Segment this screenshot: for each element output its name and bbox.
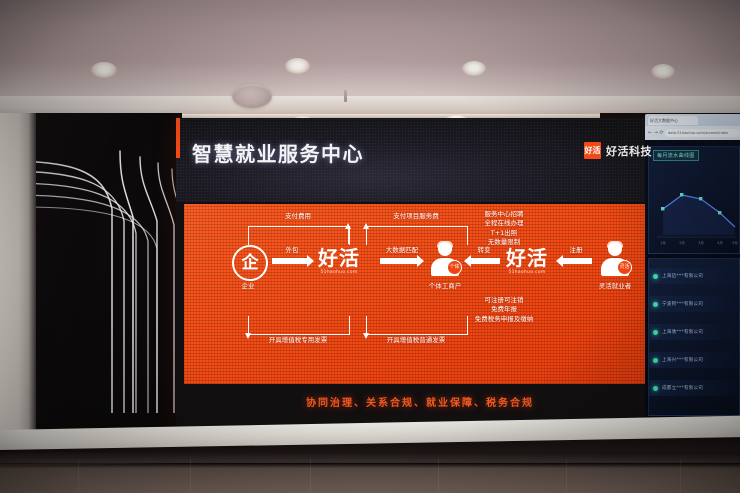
browser-nav-icons[interactable]: ←→⟳: [648, 130, 665, 136]
address-bar[interactable]: data.51haohuo.com/screen/index: [665, 129, 740, 137]
label-special-invoice: 开具增值税专用发票: [269, 336, 328, 345]
chart-card: 每月流水曲线图 1月 2月 3月 4月 5月: [648, 146, 740, 254]
badge-individual: 个体: [447, 260, 462, 275]
list-item[interactable]: 上海兴***有限公司: [648, 352, 740, 368]
node-individual-business-icon: 个体: [430, 242, 460, 276]
label-enterprise: 企业: [242, 282, 255, 291]
label-flexible-worker: 灵活就业者: [599, 282, 632, 291]
status-dot-icon: [653, 386, 658, 391]
note-right-top: 服务中心招聘 全程在线办理 T+1出照 无数量限制: [485, 210, 524, 248]
node-haohuo-left: 好活 51haohuo.com: [318, 248, 360, 275]
label-individual-business: 个体工商户: [429, 282, 462, 291]
arrow-register: [562, 258, 592, 264]
led-video-wall: 智慧就业服务中心 好活 好活科技 支付费用 支付项目服务费 企 企业: [176, 118, 664, 430]
bracket-arrow: [366, 228, 367, 244]
list-item[interactable]: 上海驰***有限公司: [648, 324, 740, 340]
label-pay-project-service-fee: 支付项目服务费: [393, 212, 439, 221]
brand-name: 好活科技: [606, 143, 652, 159]
address-bar-url: data.51haohuo.com/screen/index: [668, 131, 728, 135]
svg-text:1月: 1月: [660, 241, 666, 245]
label-general-invoice: 开具增值税普通发票: [387, 336, 446, 345]
node-flexible-worker-icon: 灵活: [600, 242, 630, 276]
list-item[interactable]: 宁波阿***有限公司: [648, 296, 740, 312]
label-bigdata-match: 大数据匹配: [386, 246, 419, 255]
browser-window[interactable]: 好活大数据中心 ←→⟳ data.51haohuo.com/screen/ind…: [645, 114, 740, 140]
downlight-icon: [285, 58, 310, 74]
person-head: [608, 242, 622, 256]
accent-bar: [176, 118, 180, 158]
bracket-arrow: [348, 228, 349, 244]
haohuo-logo-text: 好活: [318, 248, 360, 268]
bracket-general-invoice: [366, 316, 468, 335]
arrow-outsource: [272, 258, 308, 264]
company-name: 上海驰***有限公司: [662, 329, 703, 335]
wall-column-edge: [28, 113, 36, 465]
badge-worker: 灵活: [617, 260, 632, 275]
company-name: 上海兴***有限公司: [662, 357, 703, 363]
svg-text:2月: 2月: [679, 241, 685, 245]
note-line: T+1出照: [485, 229, 524, 238]
bracket-arrow: [248, 318, 249, 334]
brand-logo: 好活 好活科技: [584, 142, 652, 159]
node-haohuo-right: 好活 51haohuo.com: [506, 248, 548, 275]
svg-text:4月: 4月: [717, 241, 723, 245]
page-title: 智慧就业服务中心: [192, 138, 364, 167]
svg-text:5月: 5月: [732, 241, 738, 245]
bracket-pay-fee: [248, 226, 350, 245]
haohuo-domain: 51haohuo.com: [320, 270, 357, 275]
arrow-bigdata-match: [380, 258, 418, 264]
label-pay-fee: 支付费用: [285, 212, 311, 221]
label-outsource: 外包: [286, 246, 299, 255]
note-line: 可注册可注销: [475, 296, 534, 305]
person-head: [438, 242, 452, 256]
note-line: 全程在线办理: [485, 219, 524, 228]
note-right-bottom: 可注册可注销 免费年报 免费税务申报及缴纳: [475, 296, 534, 324]
label-register: 注册: [570, 246, 583, 255]
tiled-floor: [0, 452, 740, 493]
dashboard-screen: 每月流水曲线图 1月 2月 3月 4月 5月: [645, 140, 740, 422]
brand-mark-icon: 好活: [584, 142, 601, 159]
bracket-special-invoice: [248, 316, 350, 335]
sprinkler-icon: [344, 90, 347, 102]
browser-tab-title: 好活大数据中心: [650, 118, 678, 124]
bracket-arrow: [366, 318, 367, 334]
ceiling-speaker-icon: [232, 84, 272, 108]
svg-text:3月: 3月: [698, 241, 704, 245]
company-name: 上海迈***有限公司: [662, 273, 703, 279]
note-line: 免费年报: [475, 305, 534, 314]
diagram-panel: 支付费用 支付项目服务费 企 企业 外包 好活 51haohuo.com: [184, 204, 656, 384]
node-enterprise-icon: 企: [232, 245, 268, 281]
exhibition-hall-photo: 智慧就业服务中心 好活 好活科技 支付费用 支付项目服务费 企 企业: [0, 0, 740, 493]
haohuo-logo-text: 好活: [506, 248, 548, 268]
browser-tab[interactable]: 好活大数据中心: [648, 116, 698, 125]
note-line: 免费税务申报及缴纳: [475, 315, 534, 324]
arrow-transform: [470, 258, 500, 264]
list-item[interactable]: 上海迈***有限公司: [648, 268, 740, 284]
list-item[interactable]: 成都立***有限公司: [648, 380, 740, 396]
downlight-icon: [651, 64, 675, 79]
label-transform: 转变: [478, 246, 491, 255]
screen-slogan: 协同治理、关系合规、就业保障、税务合规: [176, 394, 664, 409]
downlight-icon: [91, 62, 117, 78]
downlight-icon: [462, 61, 486, 76]
company-name: 宁波阿***有限公司: [662, 301, 703, 307]
monthly-revenue-line-chart: 1月 2月 3月 4月 5月: [649, 147, 739, 253]
company-name: 成都立***有限公司: [662, 385, 703, 391]
business-flow-diagram: 支付费用 支付项目服务费 企 企业 外包 好活 51haohuo.com: [184, 204, 656, 384]
haohuo-domain: 51haohuo.com: [508, 270, 545, 275]
note-line: 服务中心招聘: [485, 210, 524, 219]
